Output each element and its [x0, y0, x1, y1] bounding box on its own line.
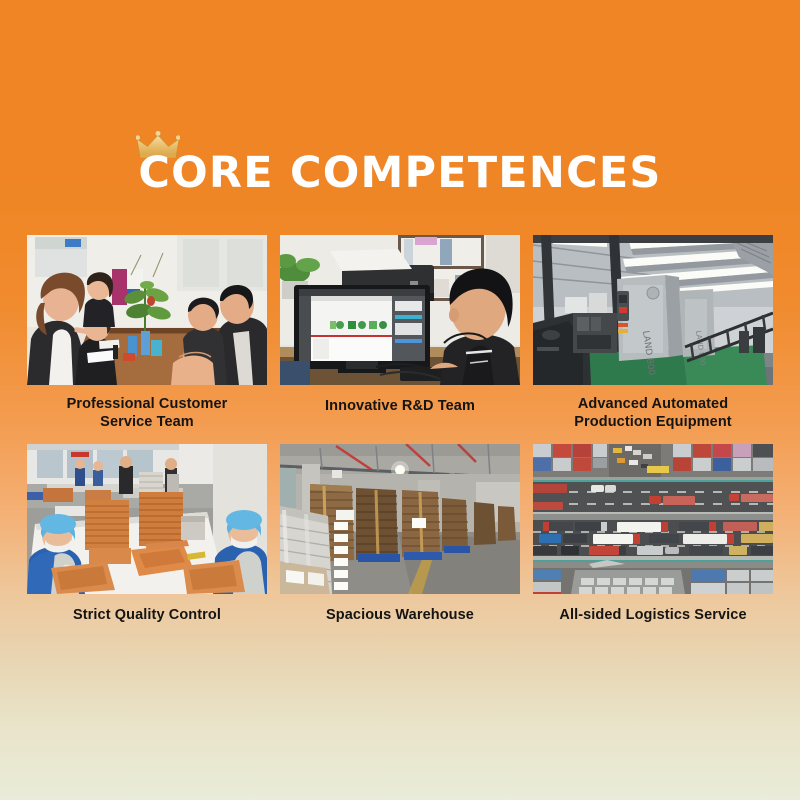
- logistics-aerial-photo: [533, 444, 773, 594]
- competence-card[interactable]: All-sided Logistics Service: [533, 444, 773, 637]
- caption-line-1: Advanced Automated: [578, 396, 728, 412]
- page-title: CORE COMPETENCES: [138, 152, 661, 195]
- card-caption: All-sided Logistics Service: [533, 594, 773, 637]
- card-caption: Strict Quality Control: [27, 594, 267, 637]
- card-caption: Professional Customer Service Team: [27, 385, 267, 444]
- page-title-block: CORE COMPETENCES: [0, 152, 800, 195]
- card-caption: Advanced Automated Production Equipment: [533, 385, 773, 444]
- meeting-room-photo: [27, 235, 267, 385]
- caption-line-2: Production Equipment: [574, 414, 731, 430]
- competence-card[interactable]: Innovative R&D Team: [280, 235, 520, 444]
- competence-card[interactable]: Professional Customer Service Team: [27, 235, 267, 444]
- caption-line-1: Spacious Warehouse: [326, 607, 474, 623]
- poster-page: CORE COMPETENCES: [0, 0, 800, 800]
- competence-card[interactable]: LAND 800 LAND 800: [533, 235, 773, 444]
- caption-line-1: Innovative R&D Team: [325, 398, 475, 414]
- quality-inspection-photo: [27, 444, 267, 594]
- caption-line-1: All-sided Logistics Service: [559, 607, 746, 623]
- designer-at-monitor-photo: [280, 235, 520, 385]
- warehouse-photo: [280, 444, 520, 594]
- printing-press-photo: LAND 800 LAND 800: [533, 235, 773, 385]
- title-inner: CORE COMPETENCES: [138, 152, 661, 195]
- caption-line-2: Service Team: [100, 414, 194, 430]
- competence-card[interactable]: Spacious Warehouse: [280, 444, 520, 637]
- caption-line-1: Strict Quality Control: [73, 607, 221, 623]
- card-caption: Innovative R&D Team: [280, 385, 520, 428]
- competence-card[interactable]: Strict Quality Control: [27, 444, 267, 637]
- competence-card-grid: Professional Customer Service Team: [27, 235, 773, 637]
- caption-line-1: Professional Customer: [67, 396, 228, 412]
- card-caption: Spacious Warehouse: [280, 594, 520, 637]
